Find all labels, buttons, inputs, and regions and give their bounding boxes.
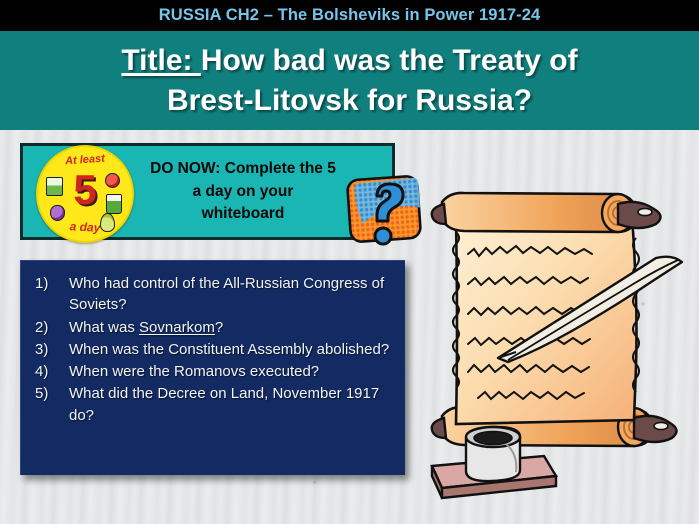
- question-mark-svg: [344, 166, 430, 252]
- question-text-3: When was the Constituent Assembly abolis…: [69, 339, 393, 360]
- do-now-line-3: whiteboard: [150, 203, 336, 226]
- parchment-scroll: [453, 216, 639, 424]
- title-question-part-1: How bad was the Treaty of: [201, 44, 578, 77]
- question-text-3-before: When was the Constituent Assembly abolis…: [69, 341, 389, 358]
- scroll-illustration: [420, 180, 699, 524]
- question-text-5-before: What did the Decree on Land, November 19…: [69, 385, 379, 423]
- question-text-4-before: When were the Romanovs executed?: [69, 363, 319, 380]
- scroll-svg: [420, 180, 699, 524]
- scroll-rod-top: [432, 193, 661, 232]
- do-now-line-2: a day on your: [150, 181, 336, 204]
- question-number-2: 2): [35, 317, 69, 338]
- title-band: Title: How bad was the Treaty of Brest-L…: [0, 31, 699, 130]
- question-number-4: 4): [35, 361, 69, 382]
- do-now-line-1: DO NOW: Complete the 5: [150, 158, 336, 181]
- question-text-2: What was Sovnarkom?: [69, 317, 393, 338]
- grape-icon: [50, 205, 65, 221]
- question-text-1: Who had control of the All-Russian Congr…: [69, 273, 393, 316]
- title-label: Title:: [121, 44, 200, 77]
- question-text-5: What did the Decree on Land, November 19…: [69, 383, 393, 426]
- questions-box: 1) Who had control of the All-Russian Co…: [20, 260, 405, 475]
- question-number-3: 3): [35, 339, 69, 360]
- question-text-2-underlined: Sovnarkom: [139, 319, 215, 336]
- do-now-instruction: DO NOW: Complete the 5 a day on your whi…: [118, 148, 368, 236]
- question-text-2-before: What was: [69, 319, 139, 336]
- question-number-1: 1): [35, 273, 69, 316]
- question-item-3: 3) When was the Constituent Assembly abo…: [35, 339, 393, 360]
- question-text-2-after: ?: [215, 319, 223, 336]
- question-text-1-before: Who had control of the All-Russian Congr…: [69, 275, 384, 313]
- title-line-1: Title: How bad was the Treaty of: [121, 41, 577, 81]
- question-item-4: 4) When were the Romanovs executed?: [35, 361, 393, 382]
- pear-icon: [100, 213, 115, 232]
- questions-list: 1) Who had control of the All-Russian Co…: [35, 273, 393, 426]
- question-text-4: When were the Romanovs executed?: [69, 361, 393, 382]
- slide-canvas: RUSSIA CH2 – The Bolsheviks in Power 191…: [0, 0, 699, 524]
- question-item-1: 1) Who had control of the All-Russian Co…: [35, 273, 393, 316]
- question-item-2: 2) What was Sovnarkom?: [35, 317, 393, 338]
- question-item-5: 5) What did the Decree on Land, November…: [35, 383, 393, 426]
- title-line-2: Brest-Litovsk for Russia?: [167, 81, 532, 121]
- question-mark-icon: [344, 166, 430, 252]
- food-pack-icon: [46, 177, 63, 196]
- question-number-5: 5): [35, 383, 69, 426]
- chapter-bar: RUSSIA CH2 – The Bolsheviks in Power 191…: [0, 0, 699, 31]
- chapter-bar-text: RUSSIA CH2 – The Bolsheviks in Power 191…: [159, 6, 541, 25]
